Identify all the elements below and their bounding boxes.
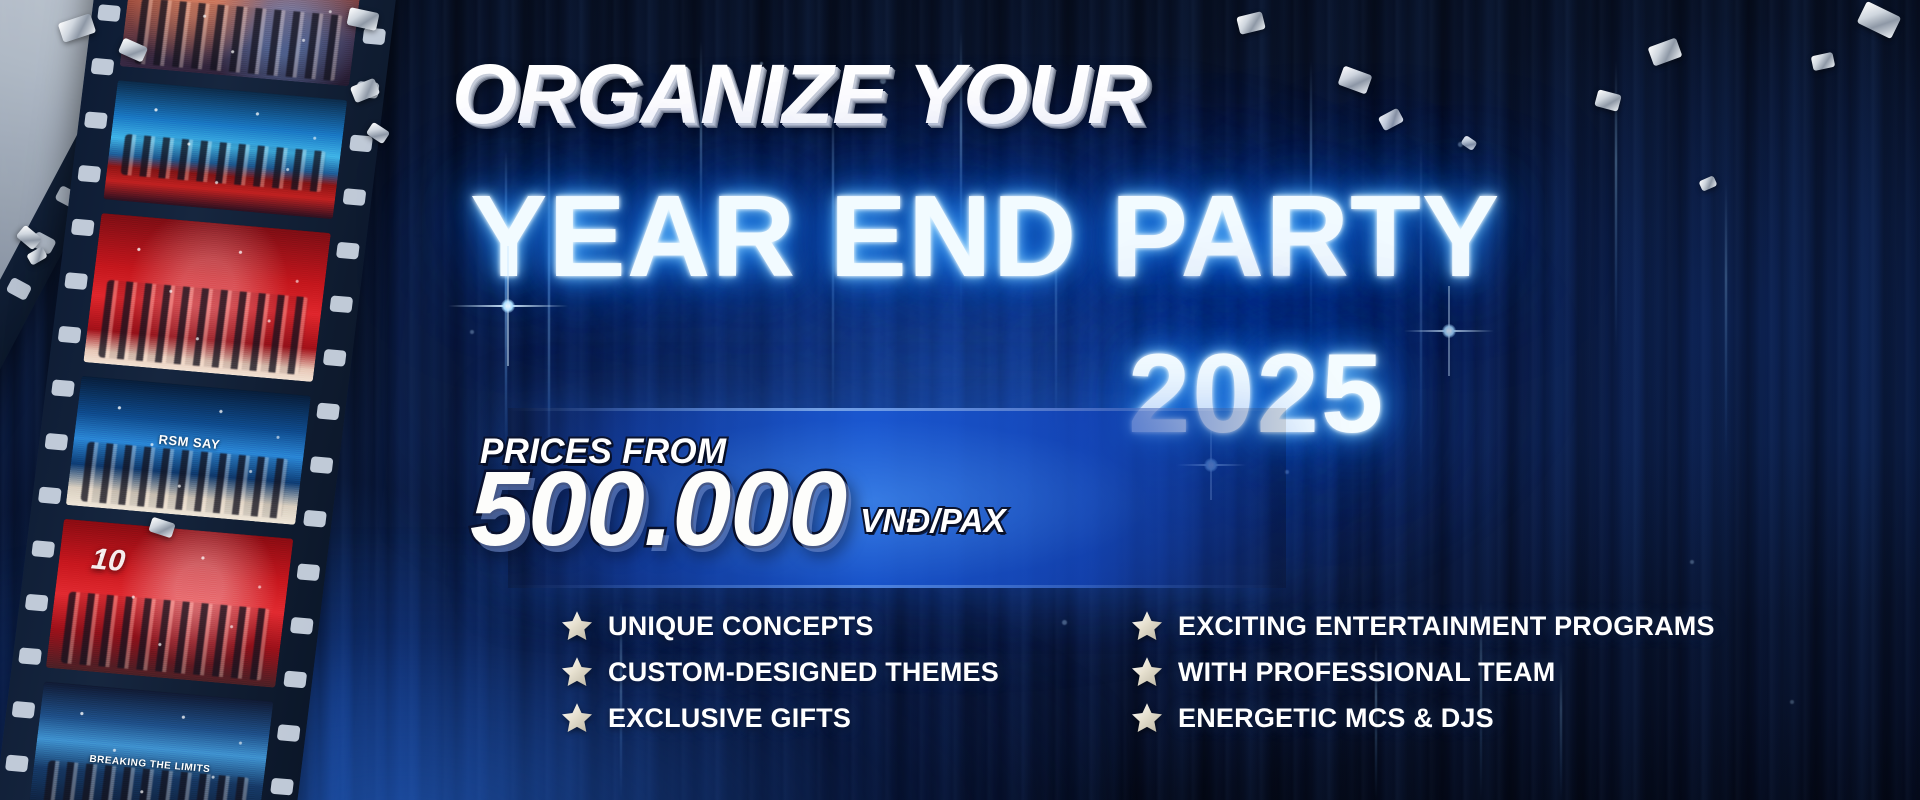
feature-label: ENERGETIC MCS & DJS bbox=[1178, 703, 1494, 734]
star-icon bbox=[1130, 655, 1164, 689]
star-icon bbox=[560, 701, 594, 735]
filmstrip-photo bbox=[83, 213, 331, 382]
feature-label: EXCLUSIVE GIFTS bbox=[608, 703, 851, 734]
feature-label: UNIQUE CONCEPTS bbox=[608, 611, 874, 642]
star-icon bbox=[560, 609, 594, 643]
page-title: ORGANIZE YOUR bbox=[452, 52, 1147, 136]
feature-label: EXCITING ENTERTAINMENT PROGRAMS bbox=[1178, 611, 1715, 642]
list-item: ENERGETIC MCS & DJS bbox=[1130, 696, 1715, 740]
feature-label: CUSTOM-DESIGNED THEMES bbox=[608, 657, 999, 688]
price-row: 500.000 VNĐ/PAX bbox=[470, 456, 1006, 562]
year-end-party-banner: RSM SAY 10 BREAKING THE LIMITS bbox=[0, 0, 1920, 800]
filmstrip-photo: BREAKING THE LIMITS bbox=[28, 682, 273, 800]
star-icon bbox=[1130, 609, 1164, 643]
feature-list-left: UNIQUE CONCEPTS CUSTOM-DESIGNED THEMES E… bbox=[560, 604, 999, 740]
filmstrip-collage: RSM SAY 10 BREAKING THE LIMITS bbox=[0, 0, 430, 800]
filmstrip-photo bbox=[120, 0, 363, 86]
feature-list-right: EXCITING ENTERTAINMENT PROGRAMS WITH PRO… bbox=[1130, 604, 1715, 740]
list-item: CUSTOM-DESIGNED THEMES bbox=[560, 650, 999, 694]
list-item: WITH PROFESSIONAL TEAM bbox=[1130, 650, 1715, 694]
list-item: UNIQUE CONCEPTS bbox=[560, 604, 999, 648]
filmstrip-photo: RSM SAY bbox=[66, 376, 311, 525]
price-unit: VNĐ/PAX bbox=[860, 502, 1006, 540]
feature-label: WITH PROFESSIONAL TEAM bbox=[1178, 657, 1555, 688]
star-icon bbox=[1130, 701, 1164, 735]
filmstrip-photo: 10 bbox=[46, 519, 294, 688]
star-icon bbox=[560, 655, 594, 689]
list-item: EXCITING ENTERTAINMENT PROGRAMS bbox=[1130, 604, 1715, 648]
price-amount: 500.000 bbox=[470, 456, 846, 562]
filmstrip-photo bbox=[103, 80, 347, 219]
neon-title: YEAR END PARTY bbox=[470, 178, 1500, 294]
list-item: EXCLUSIVE GIFTS bbox=[560, 696, 999, 740]
